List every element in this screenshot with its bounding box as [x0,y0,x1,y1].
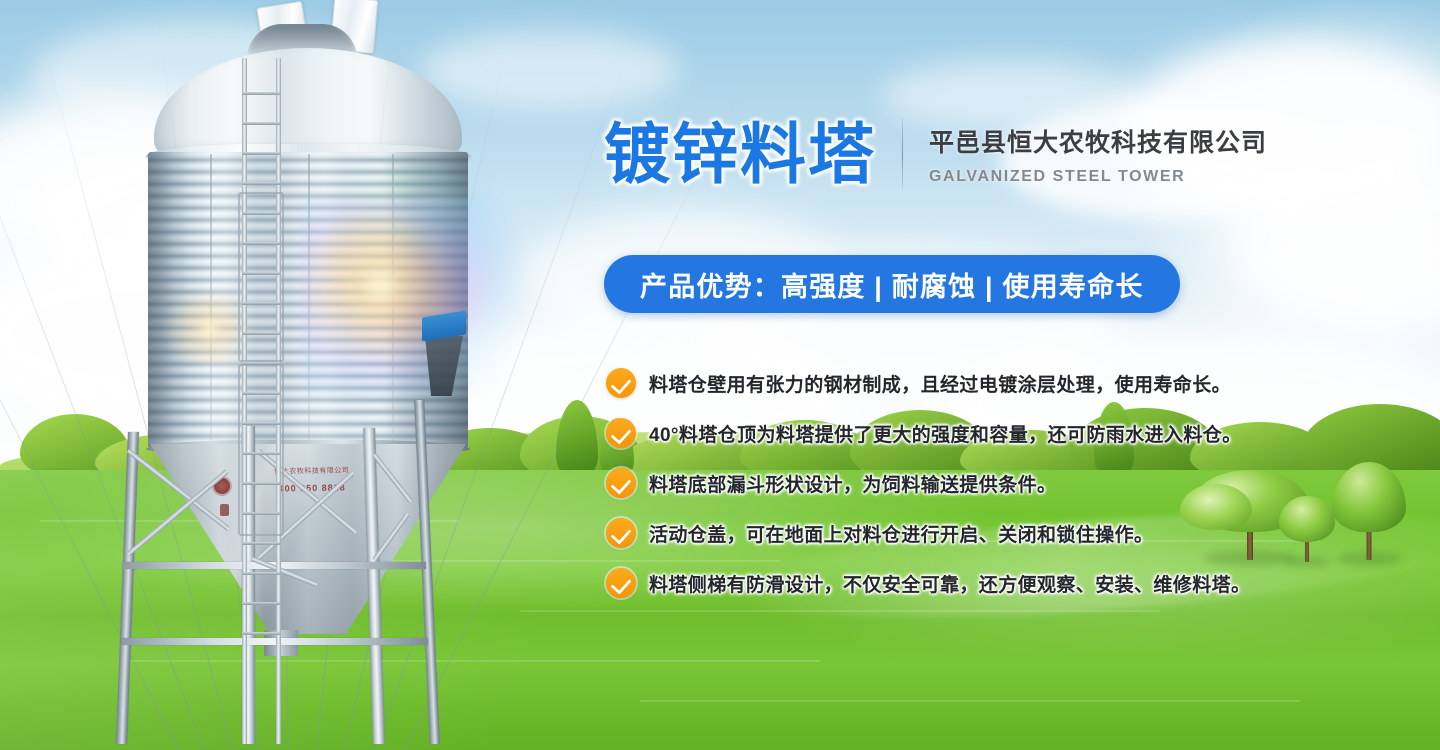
feature-item-3-text: 料塔底部漏斗形状设计，为饲料输送提供条件。 [649,470,1056,497]
brand-block: 平邑县恒大农牧科技有限公司 GALVANIZED STEEL TOWER [929,123,1267,186]
advantages-pill-text: 产品优势：高强度 | 耐腐蚀 | 使用寿命长 [640,265,1144,304]
feature-item-3: 料塔底部漏斗形状设计，为饲料输送提供条件。 [606,458,1306,508]
feature-item-1: 料塔仓壁用有张力的钢材制成，且经过电镀涂层处理，使用寿命长。 [606,358,1306,408]
feature-item-1-text: 料塔仓壁用有张力的钢材制成，且经过电镀涂层处理，使用寿命长。 [649,370,1231,397]
advantages-pill: 产品优势：高强度 | 耐腐蚀 | 使用寿命长 [604,255,1180,313]
hero-banner: 恒大农牧科技有限公司 400 850 8818 [0,0,1440,750]
check-circle-icon [606,518,636,548]
check-circle-icon [606,418,636,448]
feature-item-5: 料塔侧梯有防滑设计，不仅安全可靠，还方便观察、安装、维修料塔。 [606,558,1306,608]
feature-item-2-text: 40°料塔仓顶为料塔提供了更大的强度和容量，还可防雨水进入料仓。 [649,420,1242,447]
headline-row: 镀锌料塔 平邑县恒大农牧科技有限公司 GALVANIZED STEEL TOWE… [604,118,1267,190]
feature-item-2: 40°料塔仓顶为料塔提供了更大的强度和容量，还可防雨水进入料仓。 [606,408,1306,458]
check-circle-icon [606,468,636,498]
title-divider [902,118,903,190]
company-name-en: GALVANIZED STEEL TOWER [929,168,1267,186]
feature-item-4: 活动仓盖，可在地面上对料仓进行开启、关闭和锁住操作。 [606,508,1306,558]
feature-list: 料塔仓壁用有张力的钢材制成，且经过电镀涂层处理，使用寿命长。 40°料塔仓顶为料… [606,358,1306,608]
company-name: 平邑县恒大农牧科技有限公司 [929,123,1267,159]
page-title: 镀锌料塔 [604,121,876,187]
hero-content: 镀锌料塔 平邑县恒大农牧科技有限公司 GALVANIZED STEEL TOWE… [0,0,1440,750]
check-circle-icon [606,368,636,398]
feature-item-4-text: 活动仓盖，可在地面上对料仓进行开启、关闭和锁住操作。 [649,520,1153,547]
check-circle-icon [606,568,636,598]
feature-item-5-text: 料塔侧梯有防滑设计，不仅安全可靠，还方便观察、安装、维修料塔。 [649,570,1250,597]
